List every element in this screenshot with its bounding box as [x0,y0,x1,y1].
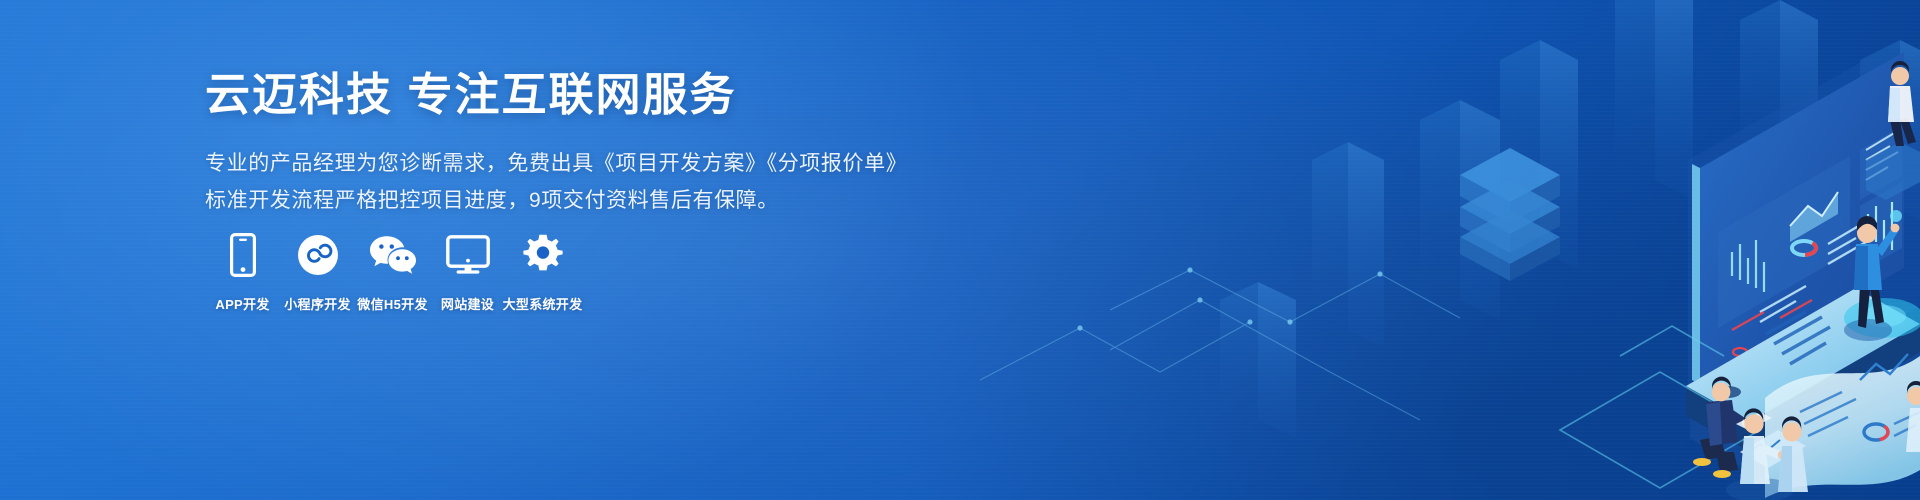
service-label: 大型系统开发 [503,294,583,313]
service-item-website[interactable]: 网站建设 [430,232,505,313]
service-item-wechat-h5[interactable]: 微信H5开发 [355,232,430,313]
subtitle-line-1: 专业的产品经理为您诊断需求，免费出具《项目开发方案》《分项报价单》 [205,152,907,175]
service-item-miniprogram[interactable]: 小程序开发 [280,232,355,313]
subtitle-line-2: 标准开发流程严格把控项目进度，9项交付资料售后有保障。 [205,183,905,219]
hero-illustration [860,0,1920,500]
hero-copy: 云迈科技 专注互联网服务 专业的产品经理为您诊断需求，免费出具《项目开发方案》《… [205,70,905,219]
mobile-phone-icon [230,232,256,278]
mini-program-icon [297,232,339,278]
hero-subtitle: 专业的产品经理为您诊断需求，免费出具《项目开发方案》《分项报价单》 标准开发流程… [205,146,905,218]
wechat-icon [369,232,417,278]
server-stack [1460,148,1560,281]
monitor-icon [446,232,490,278]
service-label: APP开发 [215,294,269,313]
service-label: 微信H5开发 [357,294,427,313]
gear-icon [522,232,564,278]
service-label: 小程序开发 [284,294,351,313]
service-label: 网站建设 [441,294,494,313]
service-item-large-system[interactable]: 大型系统开发 [505,232,580,313]
hero-banner: 云迈科技 专注互联网服务 专业的产品经理为您诊断需求，免费出具《项目开发方案》《… [0,0,1920,500]
service-list: APP开发 小程序开发 [205,232,580,313]
page-title: 云迈科技 专注互联网服务 [205,70,905,120]
service-item-app[interactable]: APP开发 [205,232,280,313]
